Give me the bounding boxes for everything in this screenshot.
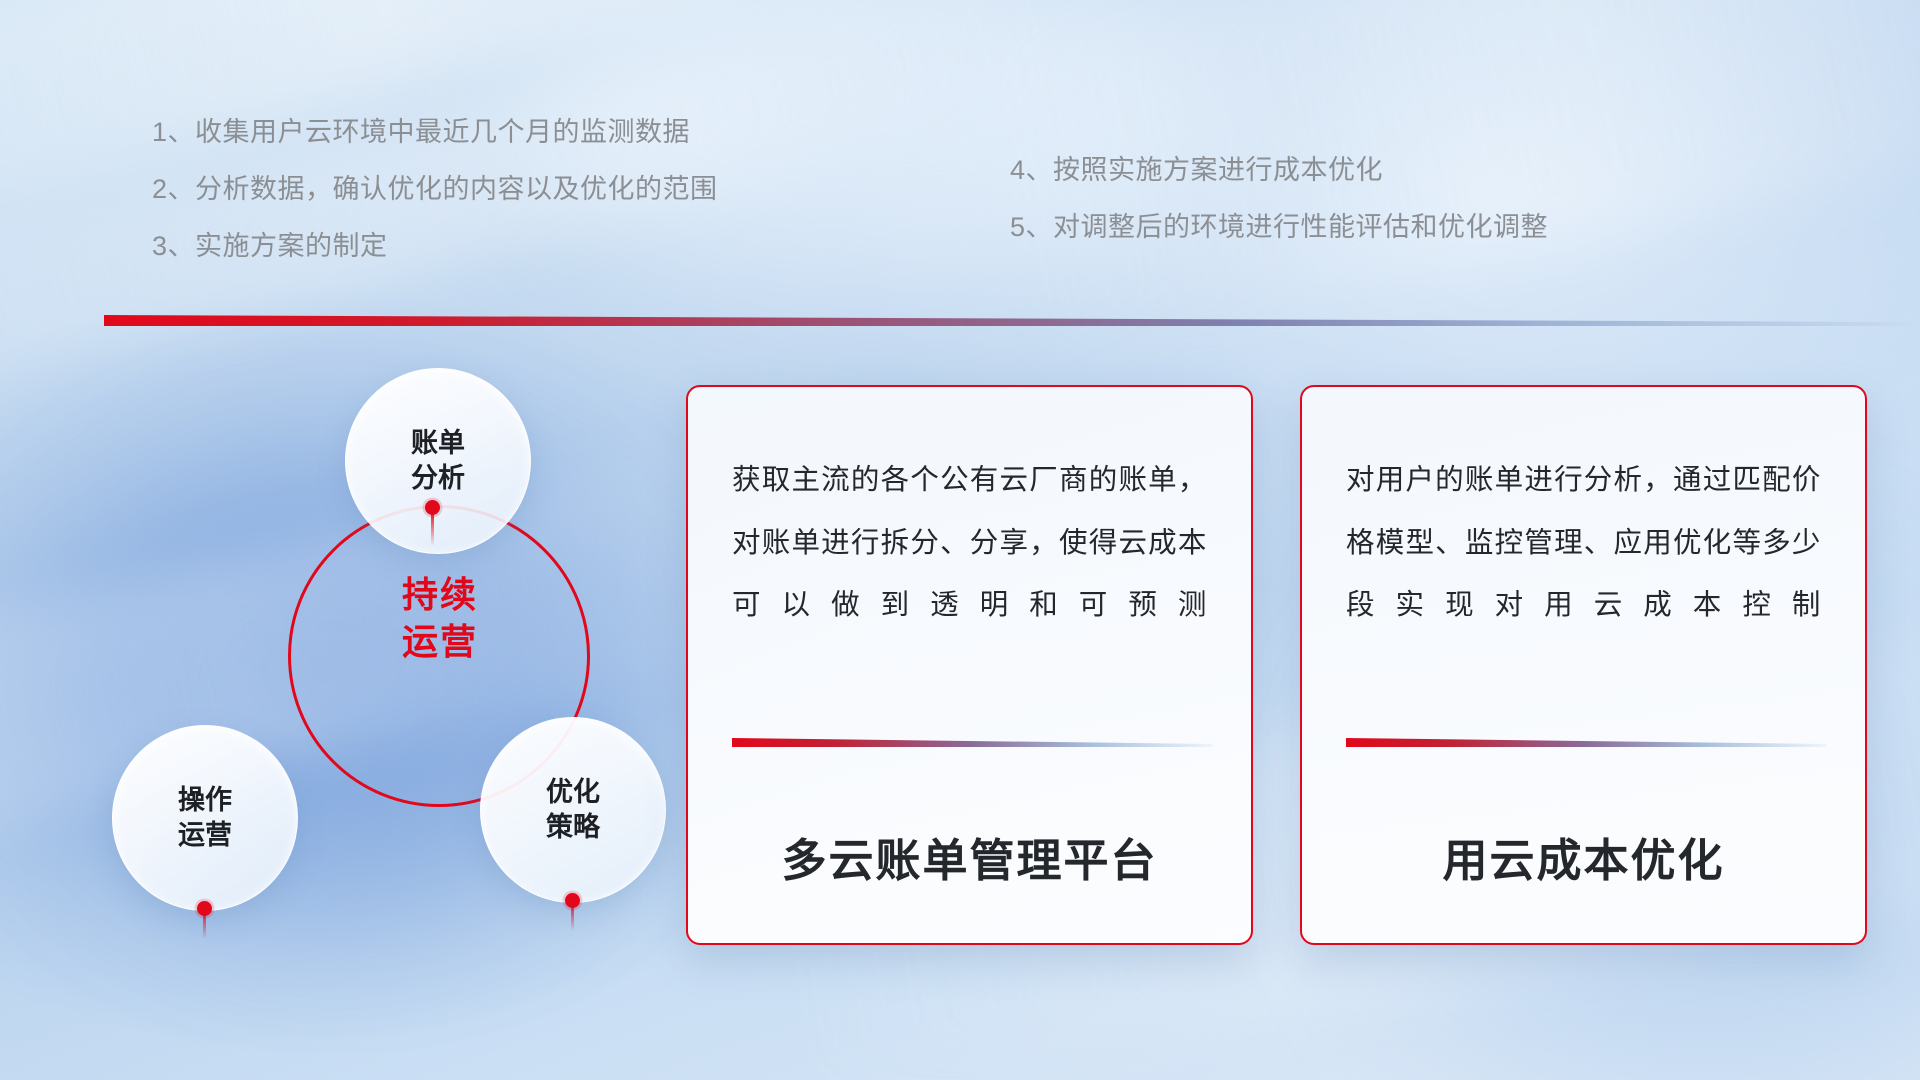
diagram-node-optimization-strategy[interactable]: 优化 策略 (480, 717, 666, 903)
steps-list-left: 1、收集用户云环境中最近几个月的监测数据 2、分析数据，确认优化的内容以及优化的… (152, 117, 718, 288)
diagram-center-label: 持续 运营 (342, 572, 538, 666)
diagram-dot-bottom-left (197, 901, 212, 916)
step-item-3: 3、实施方案的制定 (152, 231, 718, 262)
node-label-line-1: 优化 (546, 775, 600, 810)
step-item-5: 5、对调整后的环境进行性能评估和优化调整 (1010, 212, 1548, 243)
step-item-2: 2、分析数据，确认优化的内容以及优化的范围 (152, 174, 718, 205)
card-divider (1346, 737, 1826, 747)
diagram-dot-top (425, 500, 440, 515)
steps-list-right: 4、按照实施方案进行成本优化 5、对调整后的环境进行性能评估和优化调整 (1010, 155, 1548, 269)
diagram-tick-top (431, 510, 434, 546)
step-item-1: 1、收集用户云环境中最近几个月的监测数据 (152, 117, 718, 148)
card-body-text: 获取主流的各个公有云厂商的账单，对账单进行拆分、分享，使得云成本可以做到透明和可… (732, 449, 1207, 637)
card-body-text: 对用户的账单进行分析，通过匹配价格模型、监控管理、应用优化等多少段实现对用云成本… (1346, 449, 1821, 637)
section-divider (104, 313, 1916, 326)
diagram-center-line-2: 运营 (342, 619, 538, 666)
card-title: 用云成本优化 (1302, 824, 1865, 889)
diagram-node-billing-analysis[interactable]: 账单 分析 (345, 368, 531, 554)
diagram-node-operations[interactable]: 操作 运营 (112, 725, 298, 911)
continuous-operation-diagram: 持续 运营 账单 分析 操作 运营 优化 策略 (90, 355, 650, 945)
feature-card-cost-optimization[interactable]: 对用户的账单进行分析，通过匹配价格模型、监控管理、应用优化等多少段实现对用云成本… (1300, 385, 1867, 945)
card-divider (732, 737, 1212, 747)
node-label-line-1: 账单 (411, 426, 465, 461)
feature-card-multicloud-billing[interactable]: 获取主流的各个公有云厂商的账单，对账单进行拆分、分享，使得云成本可以做到透明和可… (686, 385, 1253, 945)
node-label-line-2: 策略 (546, 810, 600, 845)
node-label-line-2: 分析 (411, 461, 465, 496)
diagram-center-line-1: 持续 (342, 572, 538, 619)
card-title: 多云账单管理平台 (688, 824, 1251, 889)
node-label-line-2: 运营 (178, 818, 232, 853)
step-item-4: 4、按照实施方案进行成本优化 (1010, 155, 1548, 186)
node-label-line-1: 操作 (178, 783, 232, 818)
diagram-dot-bottom-right (565, 893, 580, 908)
